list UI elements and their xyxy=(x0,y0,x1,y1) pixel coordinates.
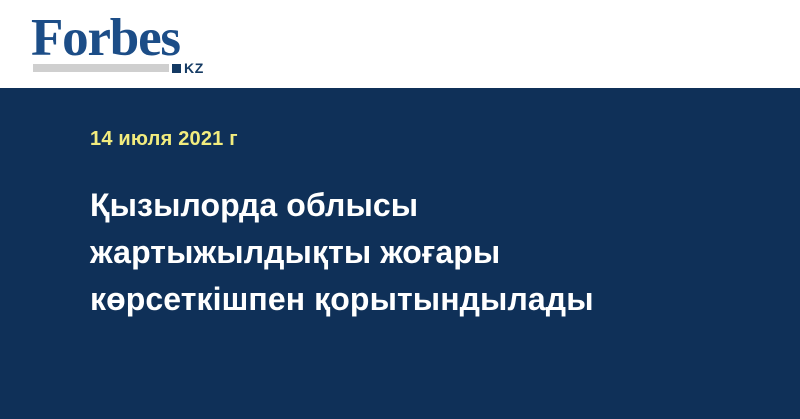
logo-gray-rule xyxy=(33,64,169,72)
page-title: Қызылорда облысы жартыжылдықты жоғары кө… xyxy=(90,182,730,323)
logo-suffix-kz: KZ xyxy=(184,61,204,75)
site-header: Forbes KZ xyxy=(0,0,800,88)
square-icon xyxy=(172,64,181,73)
headline-line-3: көрсеткішпен қорытындылады xyxy=(90,276,730,323)
forbes-kz-logo[interactable]: Forbes KZ xyxy=(31,12,231,76)
logo-wordmark-forbes: Forbes xyxy=(31,12,180,65)
logo-kz-lockup: KZ xyxy=(172,62,204,74)
article-preview-card: Forbes KZ 14 июля 2021 г Қызылорда облыс… xyxy=(0,0,800,419)
article-date: 14 июля 2021 г xyxy=(90,128,238,150)
headline-line-2: жартыжылдықты жоғары xyxy=(90,229,730,276)
headline-line-1: Қызылорда облысы xyxy=(90,182,730,229)
